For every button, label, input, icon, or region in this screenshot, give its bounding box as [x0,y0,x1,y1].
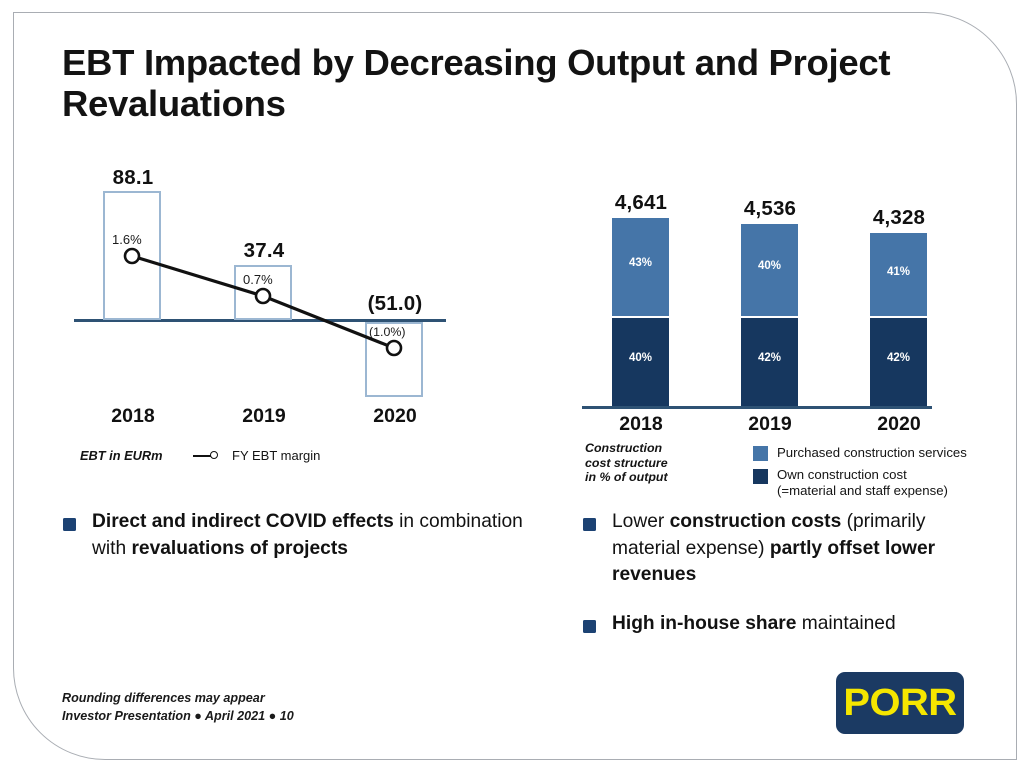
ebt-xtick-2020: 2020 [349,405,441,428]
bullet-square-icon [583,518,596,531]
page-title: EBT Impacted by Decreasing Output and Pr… [62,42,962,124]
ebt-unit-note: EBT in EURm [80,448,162,463]
cost-unit-note-line3: in % of output [585,470,668,484]
porr-logo: PORR [836,672,964,734]
cost-xtick-2019: 2019 [724,413,816,436]
cost-unit-note-line1: Construction [585,441,662,455]
list-item: Lower construction costs (primarily mate… [583,509,983,589]
porr-logo-wordmark: PORR [833,672,967,734]
cost-segment-purchased-2020: 41% [870,233,927,316]
bullet-list-left: Direct and indirect COVID effects in com… [63,509,533,562]
list-item: Direct and indirect COVID effects in com… [63,509,533,562]
cost-total-label-2019: 4,536 [724,197,816,221]
cost-segment-purchased-2019: 40% [741,224,798,316]
bullet-square-icon [583,620,596,633]
cost-total-label-2018: 4,641 [595,191,687,215]
line-marker-icon [193,449,227,463]
ebt-margin-marker-2020 [387,341,401,355]
slide-footer: Rounding differences may appear Investor… [62,690,294,725]
legend-swatch-own-icon [753,469,768,484]
ebt-xtick-2019: 2019 [218,405,310,428]
bullet-text: Lower construction costs (primarily mate… [612,509,983,589]
ebt-xtick-2018: 2018 [87,405,179,428]
cost-pct-own-2020: 42% [870,352,927,364]
bullet-list-right: Lower construction costs (primarily mate… [583,509,983,637]
ebt-margin-marker-2019 [256,289,270,303]
cost-pct-purchased-2020: 41% [870,266,927,278]
slide: EBT Impacted by Decreasing Output and Pr… [0,0,1024,768]
legend-label-own: Own construction cost (=material and sta… [777,467,948,498]
cost-segment-purchased-2018: 43% [612,218,669,316]
bullet-text: Direct and indirect COVID effects in com… [92,509,533,562]
ebt-margin-marker-2018 [125,249,139,263]
bullet-square-icon [63,518,76,531]
cost-unit-note: Construction cost structure in % of outp… [585,441,668,485]
footer-rounding-note: Rounding differences may appear [62,690,294,708]
cost-pct-purchased-2018: 43% [612,257,669,269]
list-item: High in-house share maintained [583,611,983,638]
cost-segment-own-2020: 42% [870,318,927,406]
cost-xtick-2018: 2018 [595,413,687,436]
ebt-margin-label-2019: 0.7% [243,272,273,287]
construction-cost-chart: 43% 40% 4,641 40% 42% 4,536 41% 42% 4,32… [578,185,968,435]
cost-segment-own-2018: 40% [612,318,669,406]
ebt-margin-label-2018: 1.6% [112,232,142,247]
ebt-chart: 88.1 37.4 (51.0) 1.6% 0.7% (1.0%) 2018 2… [62,160,462,460]
footer-presentation-info: Investor Presentation ● April 2021 ● 10 [62,708,294,726]
legend-label-own-line2: (=material and staff expense) [777,483,948,498]
cost-segment-own-2019: 42% [741,318,798,406]
cost-unit-note-line2: cost structure [585,456,668,470]
legend-label-purchased: Purchased construction services [777,445,967,461]
legend-label-own-line1: Own construction cost [777,467,907,482]
legend-swatch-purchased-icon [753,446,768,461]
cost-pct-own-2019: 42% [741,352,798,364]
cost-pct-purchased-2019: 40% [741,260,798,272]
bullet-text: High in-house share maintained [612,611,983,638]
ebt-legend-label-margin: FY EBT margin [232,448,320,463]
cost-xtick-2020: 2020 [853,413,945,436]
ebt-margin-label-2020: (1.0%) [369,325,406,339]
cost-total-label-2020: 4,328 [853,206,945,230]
cost-baseline-axis [582,406,932,409]
cost-pct-own-2018: 40% [612,352,669,364]
